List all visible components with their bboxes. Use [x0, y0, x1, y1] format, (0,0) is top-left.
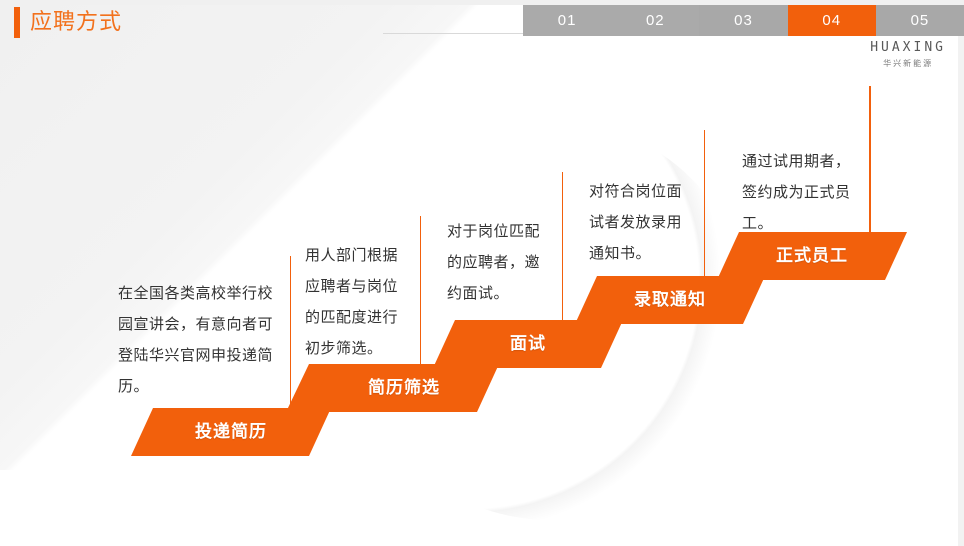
slide-canvas: 应聘方式 01 02 03 04 05 HUAXING 华兴新能源 投递简历 [0, 0, 964, 546]
step-banner-4[interactable]: 录取通知 [575, 276, 765, 318]
tab-04[interactable]: 04 [788, 5, 876, 36]
step-banner-1[interactable]: 投递简历 [131, 408, 331, 450]
tab-03[interactable]: 03 [699, 5, 787, 36]
column-divider-3 [562, 172, 563, 324]
step-label-3: 面试 [510, 329, 546, 354]
column-divider-2 [420, 216, 421, 368]
column-divider-1 [290, 256, 291, 408]
column-divider-4 [704, 130, 705, 282]
step-description-3: 对于岗位匹配的应聘者，邀约面试。 [447, 216, 553, 309]
step-label-5: 正式员工 [776, 241, 848, 266]
tab-01[interactable]: 01 [523, 5, 611, 36]
header-divider-line [383, 33, 523, 34]
step-label-1: 投递简历 [195, 417, 267, 442]
tab-05[interactable]: 05 [876, 5, 964, 36]
section-tabs[interactable]: 01 02 03 04 05 [523, 5, 964, 36]
step-banner-2[interactable]: 简历筛选 [309, 364, 499, 406]
step-label-2: 简历筛选 [368, 373, 440, 398]
page-title: 应聘方式 [30, 8, 122, 36]
step-description-4: 对符合岗位面试者发放录用通知书。 [589, 176, 695, 269]
step-description-5: 通过试用期者，签约成为正式员工。 [742, 146, 862, 239]
tab-02[interactable]: 02 [611, 5, 699, 36]
active-tab-connector-line [869, 86, 871, 268]
logo-subtitle: 华兴新能源 [870, 58, 946, 70]
step-label-4: 录取通知 [634, 285, 706, 310]
company-logo: HUAXING 华兴新能源 [870, 40, 946, 70]
step-description-2: 用人部门根据应聘者与岗位的匹配度进行初步筛选。 [305, 240, 411, 364]
step-description-1: 在全国各类高校举行校园宣讲会，有意向者可登陆华兴官网申投递简历。 [118, 278, 286, 402]
title-accent-bar [14, 7, 20, 38]
logo-wordmark: HUAXING [870, 40, 946, 56]
step-banner-3[interactable]: 面试 [433, 320, 623, 362]
